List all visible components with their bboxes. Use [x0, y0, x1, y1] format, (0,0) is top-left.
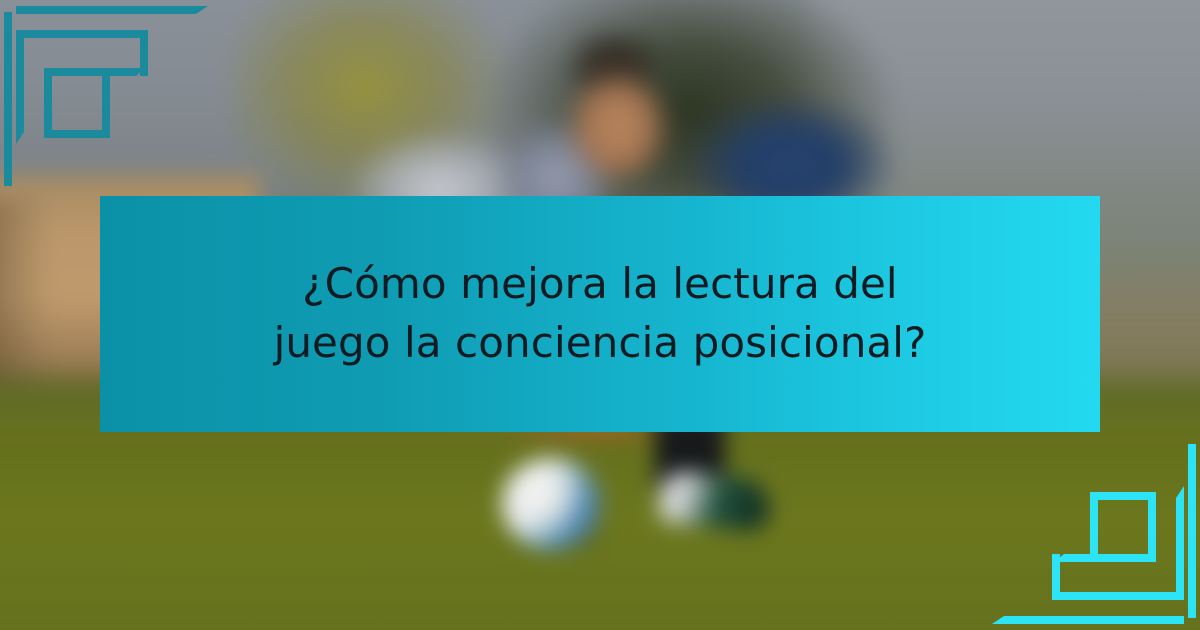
banner-card: ¿Cómo mejora la lectura del juego la con… — [0, 0, 1200, 630]
corner-ornament-top-left — [0, 0, 220, 200]
photo-soccer-ball — [502, 458, 600, 550]
title-banner: ¿Cómo mejora la lectura del juego la con… — [100, 196, 1100, 432]
banner-title: ¿Cómo mejora la lectura del juego la con… — [250, 255, 950, 373]
corner-ornament-bottom-right — [980, 430, 1200, 630]
